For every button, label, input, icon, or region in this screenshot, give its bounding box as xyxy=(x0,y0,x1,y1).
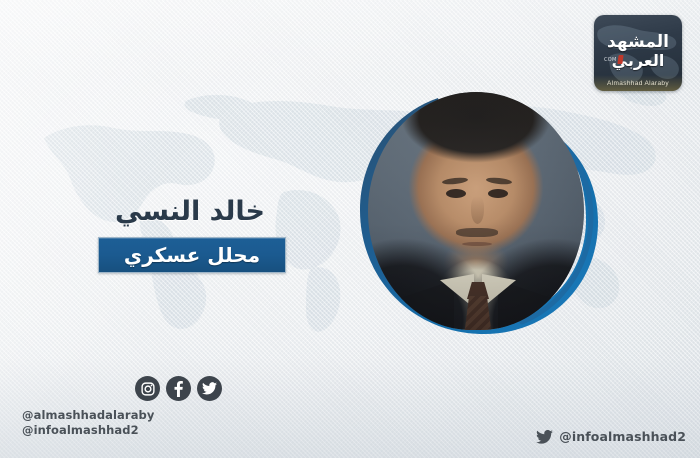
logo-arabic-line-1: المشهد xyxy=(594,34,682,51)
guest-name: خالد النسي xyxy=(100,192,280,232)
photo-shading xyxy=(368,92,584,330)
twitter-icon xyxy=(536,430,553,444)
social-icon-row xyxy=(22,376,222,401)
broadcast-guest-card: المشهد العربي COM Almashhad Alaraby xyxy=(0,0,700,458)
social-handle-primary[interactable]: @almashhadalaraby xyxy=(22,408,222,423)
footer-twitter-block[interactable]: @infoalmashhad2 xyxy=(536,429,686,444)
facebook-icon[interactable] xyxy=(166,376,191,401)
channel-logo[interactable]: المشهد العربي COM Almashhad Alaraby xyxy=(594,15,682,91)
logo-footer-text: Almashhad Alaraby xyxy=(594,80,682,87)
twitter-icon[interactable] xyxy=(197,376,222,401)
guest-role-badge: محلل عسكري xyxy=(98,237,286,273)
guest-photo-image xyxy=(368,92,584,330)
guest-role-label: محلل عسكري xyxy=(124,243,260,267)
guest-portrait xyxy=(352,80,600,342)
logo-com-text: COM xyxy=(604,57,617,63)
guest-photo xyxy=(368,92,584,330)
footer-twitter-handle: @infoalmashhad2 xyxy=(559,429,686,444)
instagram-icon[interactable] xyxy=(135,376,160,401)
social-handles: @almashhadalaraby @infoalmashhad2 xyxy=(22,408,222,438)
social-block: @almashhadalaraby @infoalmashhad2 xyxy=(22,376,222,438)
social-handle-secondary[interactable]: @infoalmashhad2 xyxy=(22,423,222,438)
